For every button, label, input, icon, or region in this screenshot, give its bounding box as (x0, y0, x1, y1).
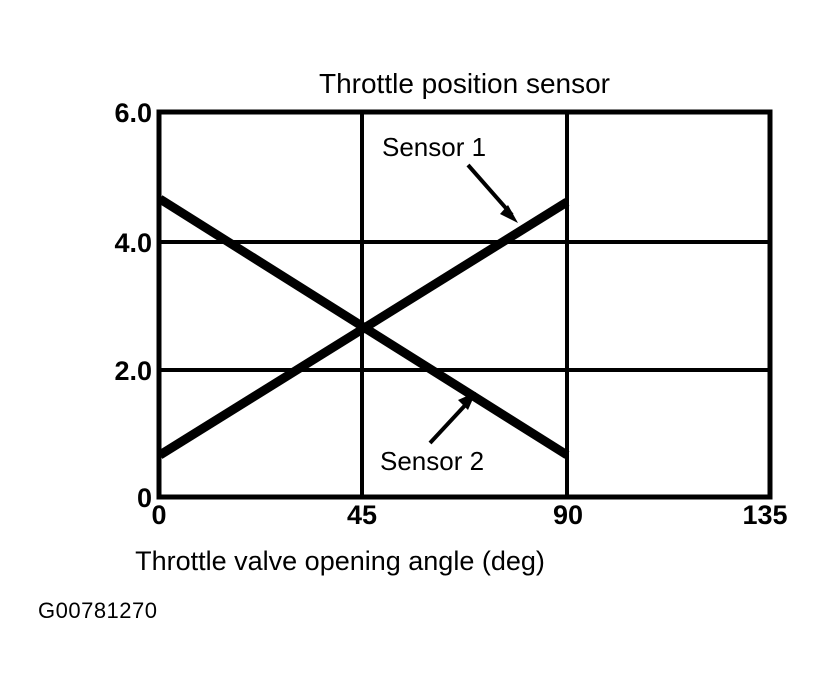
annotation-arrowhead-sensor-1 (500, 205, 518, 223)
plot-frame (159, 112, 770, 497)
figure-id-label: G00781270 (38, 598, 158, 624)
annotation-label-sensor-1: Sensor 1 (382, 132, 486, 163)
annotation-label-sensor-2: Sensor 2 (380, 446, 484, 477)
throttle-position-sensor-figure: Throttle position sensor Throttle positi… (0, 0, 813, 698)
annotation-arrow-sensor-2 (430, 400, 470, 443)
x-axis-label: Throttle valve opening angle (deg) (30, 546, 650, 577)
annotation-arrow-sensor-1 (468, 165, 512, 215)
plot-area (0, 0, 813, 698)
